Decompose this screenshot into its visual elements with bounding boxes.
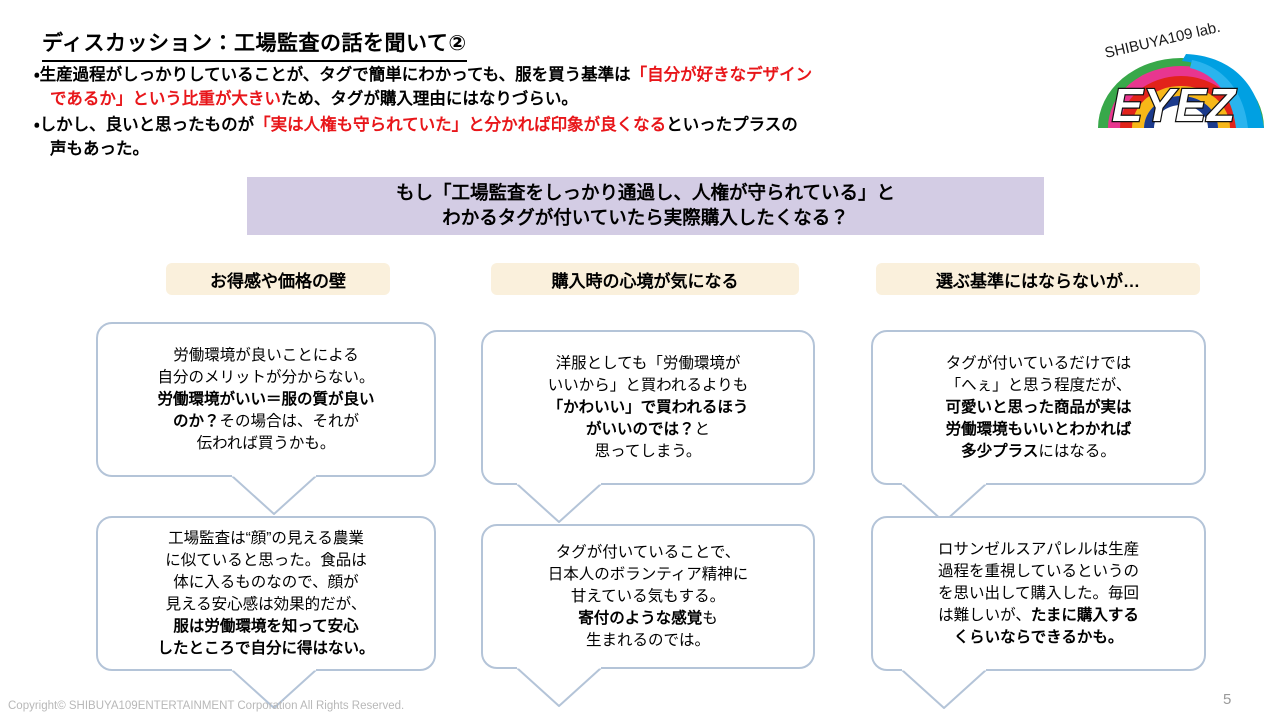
bubble-tail-col3-row2 <box>900 668 990 714</box>
bubble-line-bold: 服は労働環境を知って安心 <box>173 618 358 635</box>
category-label-3: 選ぶ基準にはならないが… <box>936 267 1140 292</box>
bubble-tail-col2-row2 <box>515 666 605 712</box>
question-line-2: わかるタグが付いていたら実際購入したくなる？ <box>442 206 848 231</box>
bubble-line: 寄付のような感覚も <box>578 608 718 630</box>
comment-bubble-col1-row2: 工場監査は“顔”の見える農業 に似ていると思った。食品は 体に入るものなので、顔… <box>96 516 436 671</box>
bubble-line: は難しいが、たまに購入する <box>938 605 1139 627</box>
bubble-line-bold: 寄付のような感覚 <box>578 610 702 627</box>
logo-top-text: SHIBUYA109 lab. <box>1103 19 1222 62</box>
bubble-line: 服は労働環境を知って安心 <box>173 616 358 638</box>
bubble-line-normal: その場合は、それが <box>220 413 360 430</box>
bullet-1-text-a: 生産過程がしっかりしていることが、タグで簡単にわかっても、服を買う基準は <box>40 66 631 84</box>
bubble-line: 伝われば買うかも。 <box>197 433 336 455</box>
bubble-line: 見える安心感は効果的だが、 <box>166 594 367 616</box>
bullet-1-highlight-b: であるか」という比重が大きい <box>50 90 281 108</box>
bubble-line: したところで自分に得はない。 <box>157 638 374 660</box>
bubble-line: いいから」と買われるよりも <box>548 375 748 397</box>
bubble-line-bold: したところで自分に得はない。 <box>157 640 374 657</box>
comment-bubble-col2-row1: 洋服としても「労働環境が いいから」と買われるよりも 「かわいい」で買われるほう… <box>481 330 815 485</box>
bubble-line-normal: は難しいが、 <box>938 607 1031 624</box>
bubble-line: タグが付いていることで、 <box>556 542 740 564</box>
bullet-2-line2: 声もあった。 <box>34 138 1064 162</box>
bubble-line: 甘えている気もする。 <box>571 586 725 608</box>
slide-root: ディスカッション：工場監査の話を聞いて② SHIBUYA109 lab. EYE… <box>0 0 1280 720</box>
bubble-line-bold: 可愛いと思った商品が実は <box>945 399 1131 416</box>
bubble-line: 労働環境が良いことによる <box>173 345 359 367</box>
bullet-1-text-b: ため、タグが購入理由にはなりづらい。 <box>281 90 578 108</box>
bubble-line-bold: 労働環境もいいとわかれば <box>946 421 1132 438</box>
bubble-line: を思い出して購入した。毎回 <box>938 583 1139 605</box>
bubble-line: 過程を重視しているというの <box>938 561 1139 583</box>
bubble-line: 生まれるのでは。 <box>586 630 710 652</box>
bullet-2-text-b: といったプラスの <box>666 116 798 134</box>
comment-bubble-col3-row1: タグが付いているだけでは 「へぇ」と思う程度だが、 可愛いと思った商品が実は 労… <box>871 330 1206 485</box>
bubble-line: くらいならできるかも。 <box>954 627 1124 649</box>
bubble-line-bold: 「かわいい」で買われるほう <box>548 399 749 416</box>
bubble-line: タグが付いているだけでは <box>946 353 1132 375</box>
bubble-line-bold: たまに購入する <box>1031 607 1139 624</box>
category-header-2: 購入時の心境が気になる <box>491 263 799 295</box>
bubble-tail-col2-row1 <box>515 482 605 528</box>
page-title: ディスカッション：工場監査の話を聞いて② <box>42 27 467 62</box>
bubble-line: 労働環境もいいとわかれば <box>946 419 1132 441</box>
bubble-line: 日本人のボランティア精神に <box>548 564 749 586</box>
bubble-line-bold: のか？ <box>173 413 220 430</box>
comment-bubble-col2-row2: タグが付いていることで、 日本人のボランティア精神に 甘えている気もする。 寄付… <box>481 524 815 669</box>
bubble-line-normal: と <box>695 421 711 438</box>
bubble-line: 「かわいい」で買われるほう <box>548 397 749 419</box>
page-number: 5 <box>1223 691 1231 708</box>
bubble-line: 「へぇ」と思う程度だが、 <box>946 375 1132 397</box>
bubble-line-normal: にはなる。 <box>1038 443 1116 460</box>
bubble-line: 可愛いと思った商品が実は <box>945 397 1131 419</box>
bubble-line: 工場監査は“顔”の見える農業 <box>168 528 364 550</box>
question-box: もし「工場監査をしっかり通過し、人権が守られている」と わかるタグが付いていたら… <box>247 177 1044 235</box>
bubble-line: ロサンゼルスアパレルは生産 <box>938 539 1139 561</box>
bubble-line-normal: も <box>702 610 718 627</box>
bubble-line: がいいのでは？と <box>586 419 710 441</box>
bullet-2-text-a: しかし、良いと思ったものが <box>40 116 255 134</box>
comment-bubble-col3-row2: ロサンゼルスアパレルは生産 過程を重視しているというの を思い出して購入した。毎… <box>871 516 1206 671</box>
category-header-1: お得感や価格の壁 <box>166 263 390 295</box>
comment-bubble-col1-row1: 労働環境が良いことによる 自分のメリットが分からない。 労働環境がいい＝服の質が… <box>96 322 436 477</box>
bullet-2-text-c: 声もあった。 <box>50 140 149 158</box>
category-header-3: 選ぶ基準にはならないが… <box>876 263 1200 295</box>
category-label-2: 購入時の心境が気になる <box>552 267 739 292</box>
bullet-list: ・生産過程がしっかりしていることが、タグで簡単にわかっても、服を買う基準は「自分… <box>34 64 1064 163</box>
category-label-1: お得感や価格の壁 <box>210 267 346 292</box>
question-line-1: もし「工場監査をしっかり通過し、人権が守られている」と <box>396 181 895 206</box>
bubble-line-bold: 多少プラス <box>961 443 1038 460</box>
logo-main-text: EYEZ <box>1112 79 1237 131</box>
bullet-item-2: ・しかし、良いと思ったものが「実は人権も守られていた」と分かれば印象が良くなると… <box>34 114 1064 162</box>
shibuya109-lab-eyez-logo: SHIBUYA109 lab. EYEZ <box>1086 16 1276 136</box>
bubble-tail-col1-row1 <box>230 474 320 520</box>
bubble-line: に似ていると思った。食品は <box>165 550 367 572</box>
bubble-line: のか？その場合は、それが <box>173 411 359 433</box>
bullet-item-1: ・生産過程がしっかりしていることが、タグで簡単にわかっても、服を買う基準は「自分… <box>34 64 1064 112</box>
bubble-line: 労働環境がいい＝服の質が良い <box>157 389 374 411</box>
bubble-line: 思ってしまう。 <box>595 441 702 463</box>
bubble-line: 自分のメリットが分からない。 <box>157 367 374 389</box>
bullet-1-highlight-a: 「自分が好きなデザイン <box>631 66 813 84</box>
bubble-line: 洋服としても「労働環境が <box>556 353 741 375</box>
copyright-text: Copyright© SHIBUYA109ENTERTAINMENT Corpo… <box>8 700 404 712</box>
bubble-line: 体に入るものなので、顔が <box>173 572 358 594</box>
bubble-line-bold: がいいのでは？ <box>586 421 695 438</box>
bubble-line-bold: 労働環境がいい＝服の質が良い <box>157 391 374 408</box>
bubble-line-bold: くらいならできるかも。 <box>954 629 1124 646</box>
bullet-2-highlight: 「実は人権も守られていた」と分かれば印象が良くなる <box>254 116 666 134</box>
bullet-1-line2: であるか」という比重が大きいため、タグが購入理由にはなりづらい。 <box>34 88 1064 112</box>
bubble-line: 多少プラスにはなる。 <box>961 441 1116 463</box>
